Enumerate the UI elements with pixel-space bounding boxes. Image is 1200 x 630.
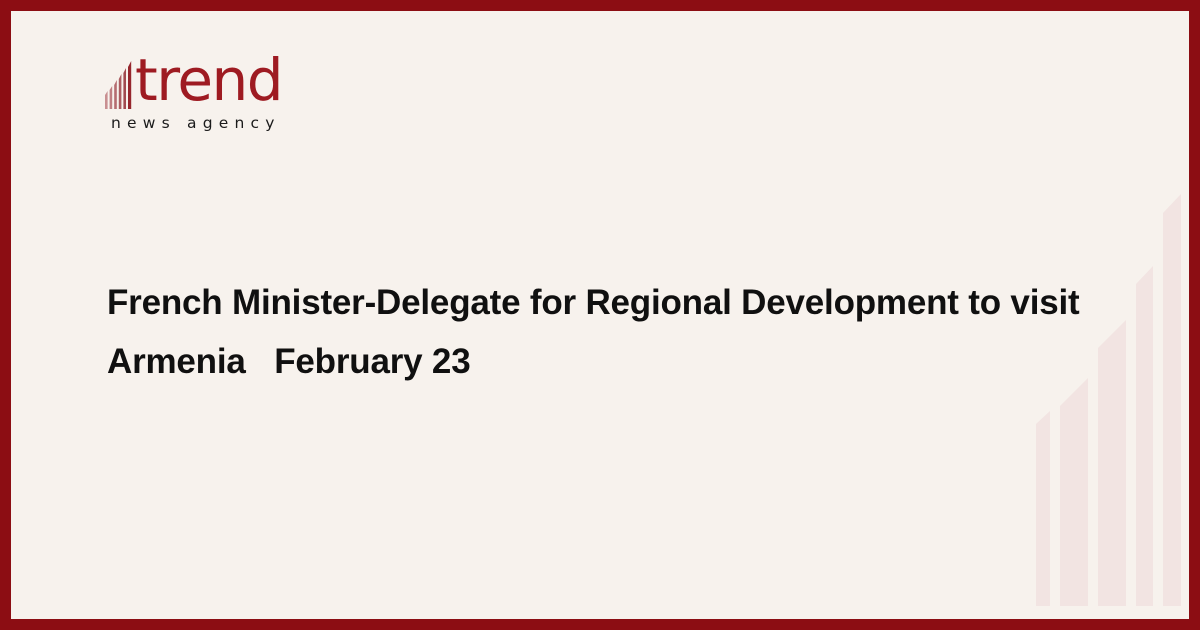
trend-news-agency-logo[interactable]: trend news agency [105,53,335,143]
card-canvas: trend news agency French Minister-Delega… [11,11,1189,619]
headline-text: French Minister-Delegate for Regional De… [107,273,1097,391]
share-card: trend news agency French Minister-Delega… [0,0,1200,630]
logo-primary-row: trend [105,53,335,115]
logo-wordmark: trend [135,49,282,111]
logo-tagline: news agency [111,114,281,132]
